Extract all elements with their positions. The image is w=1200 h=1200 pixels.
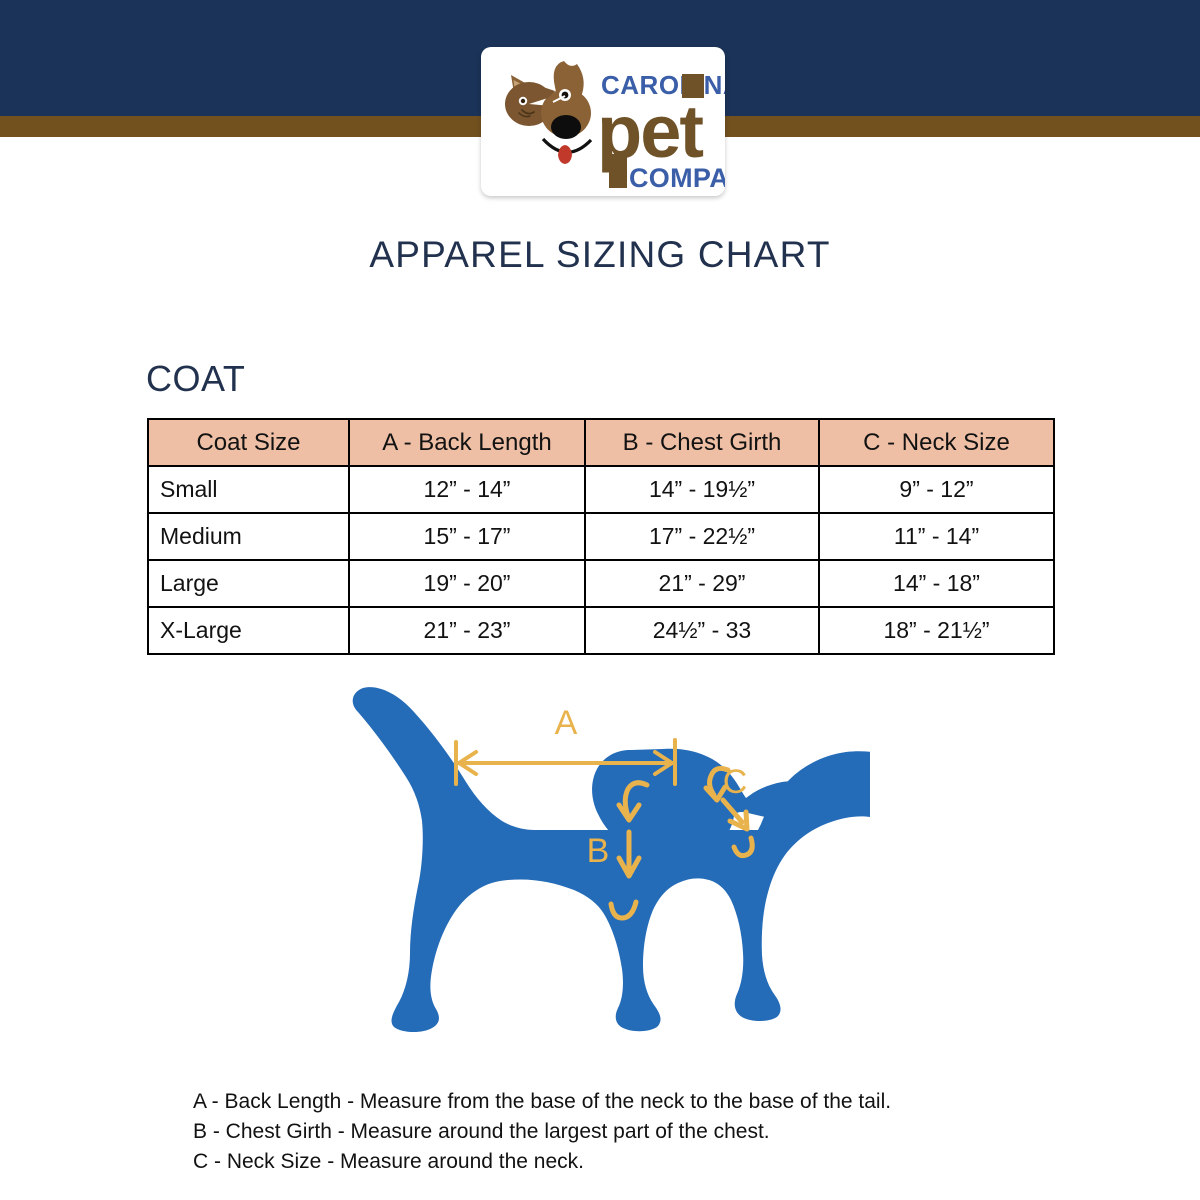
column-header-back-length: A - Back Length xyxy=(349,419,585,466)
section-heading-coat: COAT xyxy=(146,358,245,400)
measurement-legend: A - Back Length - Measure from the base … xyxy=(193,1087,1093,1177)
table-row: X-Large 21” - 23” 24½” - 33 18” - 21½” xyxy=(148,607,1054,654)
cell-chest-girth: 14” - 19½” xyxy=(585,466,819,513)
cell-back-length: 19” - 20” xyxy=(349,560,585,607)
table-header-row: Coat Size A - Back Length B - Chest Girt… xyxy=(148,419,1054,466)
table-row: Small 12” - 14” 14” - 19½” 9” - 12” xyxy=(148,466,1054,513)
cell-chest-girth: 21” - 29” xyxy=(585,560,819,607)
measure-c-label: C xyxy=(723,763,748,801)
cell-chest-girth: 24½” - 33 xyxy=(585,607,819,654)
legend-line-a: A - Back Length - Measure from the base … xyxy=(193,1087,1093,1117)
dog-face-icon xyxy=(541,61,591,164)
cell-neck-size: 14” - 18” xyxy=(819,560,1054,607)
cell-size: Small xyxy=(148,466,349,513)
cell-size: Large xyxy=(148,560,349,607)
legend-line-b: B - Chest Girth - Measure around the lar… xyxy=(193,1117,1093,1147)
legend-line-c: C - Neck Size - Measure around the neck. xyxy=(193,1147,1093,1177)
table-row: Medium 15” - 17” 17” - 22½” 11” - 14” xyxy=(148,513,1054,560)
logo-text-company: COMPANY xyxy=(629,163,725,193)
brand-logo-card: CAROLINA pet COMPANY xyxy=(481,47,725,196)
cell-neck-size: 11” - 14” xyxy=(819,513,1054,560)
cell-back-length: 12” - 14” xyxy=(349,466,585,513)
brand-logo: CAROLINA pet COMPANY xyxy=(481,47,725,196)
coat-sizing-table: Coat Size A - Back Length B - Chest Girt… xyxy=(147,418,1055,655)
cell-neck-size: 9” - 12” xyxy=(819,466,1054,513)
cell-back-length: 21” - 23” xyxy=(349,607,585,654)
measure-b-label: B xyxy=(587,832,610,870)
table-row: Large 19” - 20” 21” - 29” 14” - 18” xyxy=(148,560,1054,607)
measure-a-label: A xyxy=(555,704,578,742)
column-header-neck-size: C - Neck Size xyxy=(819,419,1054,466)
column-header-chest-girth: B - Chest Girth xyxy=(585,419,819,466)
cell-size: Medium xyxy=(148,513,349,560)
dog-silhouette-icon xyxy=(353,687,870,1032)
dog-measurement-diagram: A B C xyxy=(330,672,870,1062)
cell-chest-girth: 17” - 22½” xyxy=(585,513,819,560)
column-header-coat-size: Coat Size xyxy=(148,419,349,466)
page-title: APPAREL SIZING CHART xyxy=(0,234,1200,276)
cell-neck-size: 18” - 21½” xyxy=(819,607,1054,654)
cell-size: X-Large xyxy=(148,607,349,654)
cell-back-length: 15” - 17” xyxy=(349,513,585,560)
